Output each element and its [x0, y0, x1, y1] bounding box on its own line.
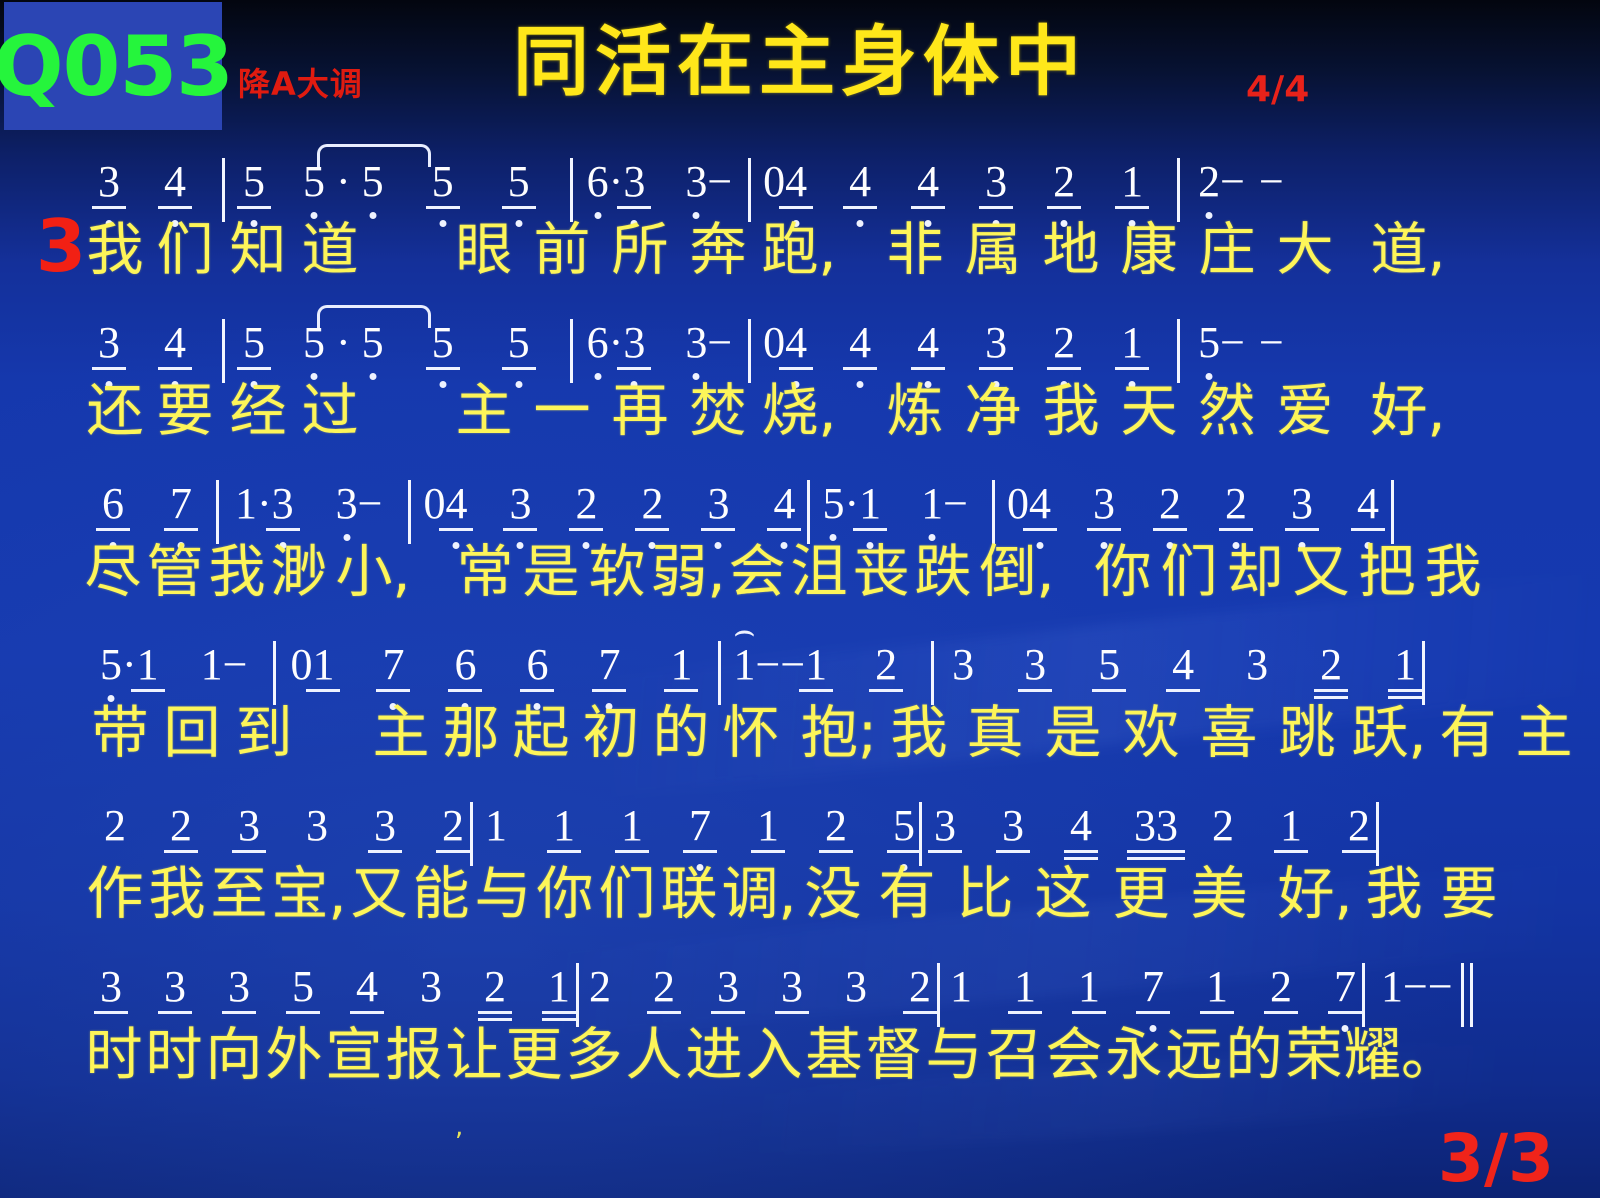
lyric-char: 焚: [680, 383, 756, 440]
lyric-char: 倒,: [974, 544, 1060, 601]
note: 2: [1348, 782, 1370, 848]
note: 3: [1291, 460, 1313, 526]
lyric-char: 知: [222, 222, 294, 279]
note: 4: [1029, 460, 1051, 526]
note: 3: [164, 943, 186, 1009]
note: 1: [1394, 621, 1416, 687]
lyric-char: 美: [1180, 866, 1258, 923]
song-slide: Q053 降A大调 同活在主身体中 4/4 3 3 4 5 5: [0, 0, 1600, 1198]
note: 3: [1024, 621, 1046, 687]
lyric-char: 带: [84, 705, 156, 762]
lyric-char: 抱;: [796, 705, 882, 762]
note: 3: [623, 299, 645, 365]
note: 3: [1246, 621, 1268, 687]
lyric-char: 主: [1504, 705, 1584, 762]
lyric-char: 们: [1156, 544, 1222, 601]
score-system-4: 5 · 1 1 − 0 1 7 6 6 7 1: [0, 621, 1600, 782]
note: 3: [98, 138, 120, 204]
dotted-rhythm-dot: ·: [844, 460, 859, 526]
lyric-row-1: 我 们 知 道 眼 前 所 奔 跑, 非 属 地 康 庄 大 道,: [0, 204, 1600, 296]
score-system-1: 3 3 4 5 5 · 5 5 5: [0, 138, 1600, 299]
score-system-2: 3 4 5 5 · 5 5 5: [0, 299, 1600, 460]
lyric-char: 康: [1110, 222, 1188, 279]
lyric-char: 荣: [1284, 1027, 1344, 1084]
hold-dash: −: [358, 460, 383, 526]
lyric-char: 联: [658, 866, 720, 923]
hold-dash: −: [780, 621, 805, 687]
lyric-char: 喜: [1190, 705, 1268, 762]
rest: 0: [763, 299, 785, 365]
lyric-char: 多: [564, 1027, 624, 1084]
rest: 0: [290, 621, 312, 687]
note: 3: [845, 943, 867, 1009]
lyric-char: 入: [744, 1027, 804, 1084]
lyric-char: 净: [954, 383, 1032, 440]
note: 2: [589, 943, 611, 1009]
lyric-char: 基: [804, 1027, 864, 1084]
lyric-char: 那: [436, 705, 506, 762]
lyric-row-6: 时 时 向 外 宣 报 让 更 多 人 进 入 基 督 与 召 会 永 远 的: [0, 1009, 1600, 1101]
note: 1: [670, 621, 692, 687]
note: 3: [420, 943, 442, 1009]
lyric-char: 属: [954, 222, 1032, 279]
note: 3: [717, 943, 739, 1009]
lyric-char: 有: [868, 866, 946, 923]
lyric-char: 又: [1288, 544, 1354, 601]
lyric-row-5: 作 我 至 宝, 又 能 与 你 们 联 调, 没 有 比 这 更 美 好, 我: [0, 848, 1600, 940]
note: 4: [773, 460, 795, 526]
note: 4: [164, 138, 186, 204]
lyric-char: 把: [1354, 544, 1420, 601]
note: 1: [1280, 782, 1302, 848]
note: 2: [1225, 460, 1247, 526]
note: 1: [1078, 943, 1100, 1009]
lyric-char: 经: [222, 383, 294, 440]
note: 1: [548, 943, 570, 1009]
rest: 0: [763, 138, 785, 204]
lyric-char: 们: [596, 866, 658, 923]
note: 4: [849, 299, 871, 365]
lyric-char: 外: [264, 1027, 324, 1084]
note: 5: [822, 460, 844, 526]
page-title: 同活在主身体中: [0, 24, 1600, 100]
note: 4: [1070, 782, 1092, 848]
score-system-5: 2 2 3 3 3 2 1 1 1 7: [0, 782, 1600, 943]
note: 2: [1320, 621, 1342, 687]
lyric-char: 的: [646, 705, 716, 762]
note: 2: [641, 460, 663, 526]
lyric-char: 常: [452, 544, 518, 601]
lyric-char: 向: [204, 1027, 264, 1084]
note: 5: [362, 299, 384, 365]
note: 2: [575, 460, 597, 526]
note-pair: 33: [1134, 782, 1178, 848]
music-score: 3 3 4 5 5 · 5 5 5: [0, 138, 1600, 1104]
note: 5: [1098, 621, 1120, 687]
lyric-char: 我: [1032, 383, 1110, 440]
lyric-char: 跑,: [756, 222, 842, 279]
note: 5: [508, 138, 530, 204]
lyric-char: 我: [82, 222, 148, 279]
lyric-char: 调,: [720, 866, 798, 923]
note: 5: [303, 138, 325, 204]
lyric-char: 大: [1266, 222, 1344, 279]
note: 4: [1357, 460, 1379, 526]
rest: 0: [1007, 460, 1029, 526]
lyric-char: 沮: [788, 544, 850, 601]
lyric-char: 真: [956, 705, 1034, 762]
lyric-row-3: 尽 管 我 渺 小, 常 是 软 弱, 会 沮 丧 跌 倒, 你 们 却 又: [0, 526, 1600, 618]
lyric-char: 时: [144, 1027, 204, 1084]
note: 6: [587, 138, 609, 204]
note: 6: [587, 299, 609, 365]
lyric-char: 地: [1032, 222, 1110, 279]
lyric-char: 进: [684, 1027, 744, 1084]
note: 1: [312, 621, 334, 687]
lyric-char: 软: [584, 544, 650, 601]
note: 3: [623, 138, 645, 204]
note: 5: [303, 299, 325, 365]
note: 3: [685, 299, 707, 365]
note: 7: [1334, 943, 1356, 1009]
page-number: 3/3: [1438, 1126, 1554, 1192]
note: 7: [689, 782, 711, 848]
lyric-char: 我: [1358, 866, 1430, 923]
note: 2: [909, 943, 931, 1009]
lyric-char: 会: [1044, 1027, 1104, 1084]
note: 2: [170, 782, 192, 848]
note: 7: [1142, 943, 1164, 1009]
lyric-char: 我: [146, 866, 208, 923]
note: 4: [785, 299, 807, 365]
note: 1: [201, 621, 223, 687]
note: 5: [432, 138, 454, 204]
note: 3: [100, 943, 122, 1009]
hold-dash: −: [1259, 138, 1284, 204]
note: 4: [164, 299, 186, 365]
stray-punctuation: ,: [455, 1112, 463, 1142]
lyric-char: 是: [518, 544, 584, 601]
dotted-rhythm-dot: ·: [257, 460, 272, 526]
lyric-char: 耀。: [1344, 1027, 1422, 1084]
lyric-char: 人: [624, 1027, 684, 1084]
note: 3: [985, 299, 1007, 365]
lyric-char: 要: [1430, 866, 1508, 923]
lyric-char: 回: [156, 705, 228, 762]
note: 3: [509, 460, 531, 526]
dotted-rhythm-dot: ·: [122, 621, 137, 687]
lyric-char: 更: [504, 1027, 564, 1084]
lyric-char: 弱,: [650, 544, 726, 601]
lyric-char: 过: [294, 383, 366, 440]
note: 2: [1212, 782, 1234, 848]
hold-dash: −: [943, 460, 968, 526]
lyric-char: 好,: [1364, 383, 1452, 440]
hold-dash: −: [707, 299, 732, 365]
lyric-char: 你: [534, 866, 596, 923]
lyric-char: 庄: [1188, 222, 1266, 279]
lyric-char: 道: [294, 222, 366, 279]
lyric-char: 爱: [1266, 383, 1344, 440]
note: 2: [104, 782, 126, 848]
note: 1: [950, 943, 972, 1009]
lyric-char: 欢: [1112, 705, 1190, 762]
lyric-char: 跃,: [1346, 705, 1432, 762]
note: 3: [707, 460, 729, 526]
note: 3: [98, 299, 120, 365]
note: 2: [1053, 299, 1075, 365]
lyric-char: 却: [1222, 544, 1288, 601]
lyric-char: 道,: [1364, 222, 1452, 279]
lyric-char: 是: [1034, 705, 1112, 762]
note: 1: [137, 621, 159, 687]
lyric-char: 要: [148, 383, 222, 440]
lyric-char: 炼: [876, 383, 954, 440]
note: 3: [306, 782, 328, 848]
note: 1: [1014, 943, 1036, 1009]
lyric-char: 更: [1102, 866, 1180, 923]
note: 4: [785, 138, 807, 204]
note: 7: [170, 460, 192, 526]
note: 2: [484, 943, 506, 1009]
note: 3: [374, 782, 396, 848]
note: 2: [1159, 460, 1181, 526]
lyric-char: 有: [1432, 705, 1504, 762]
score-system-3: 6 7 1 · 3 3 − 0 4 3 2: [0, 460, 1600, 621]
note: 1: [805, 621, 827, 687]
lyric-char: 跌: [912, 544, 974, 601]
note: 3: [238, 782, 260, 848]
note: 1: [921, 460, 943, 526]
lyric-char: 烧,: [756, 383, 842, 440]
note: ⌢1: [733, 621, 755, 687]
note: 2: [825, 782, 847, 848]
lyric-char: 召: [984, 1027, 1044, 1084]
lyric-char: 宝,: [270, 866, 348, 923]
lyric-char: 一: [524, 383, 600, 440]
lyric-char: 到: [228, 705, 300, 762]
lyric-char: 还: [82, 383, 148, 440]
lyric-char: 又: [348, 866, 410, 923]
lyric-char: 会: [726, 544, 788, 601]
lyric-row-4: 带 回 到 主 那 起 初 的 怀 抱; 我 真 是 欢 喜 跳 跃, 有: [0, 687, 1600, 779]
lyric-char: 能: [410, 866, 472, 923]
lyric-char: 小,: [330, 544, 416, 601]
note: 2: [1198, 138, 1220, 204]
note: 4: [356, 943, 378, 1009]
note: 5: [432, 299, 454, 365]
lyric-char: 远: [1164, 1027, 1224, 1084]
lyric-char: 我: [882, 705, 956, 762]
note: 4: [917, 299, 939, 365]
note: 1: [235, 460, 257, 526]
lyric-char: 怀: [716, 705, 786, 762]
dotted-rhythm-dot: ·: [609, 299, 624, 365]
note: 5: [292, 943, 314, 1009]
lyric-char: 主: [444, 383, 524, 440]
hold-dash: −: [1428, 943, 1453, 1009]
note: 5: [508, 299, 530, 365]
lyric-row-2: 还 要 经 过 主 一 再 焚 烧, 炼 净 我 天 然 爱 好,: [0, 365, 1600, 457]
lyric-char: 这: [1024, 866, 1102, 923]
slide-header: Q053 降A大调 同活在主身体中 4/4: [0, 0, 1600, 140]
note: 3: [781, 943, 803, 1009]
note: 3: [685, 138, 707, 204]
note: 3: [934, 782, 956, 848]
note: 1: [485, 782, 507, 848]
lyric-char: 管: [144, 544, 206, 601]
note: 6: [526, 621, 548, 687]
lyric-char: 作: [84, 866, 146, 923]
note: 5: [893, 782, 915, 848]
lyric-char: 尽: [82, 544, 144, 601]
lyric-char: 然: [1188, 383, 1266, 440]
note: 2: [1270, 943, 1292, 1009]
note: 1: [1121, 138, 1143, 204]
note: 2: [653, 943, 675, 1009]
note: 7: [598, 621, 620, 687]
rest: 0: [423, 460, 445, 526]
lyric-char: 眼: [444, 222, 524, 279]
hold-dash: −: [223, 621, 248, 687]
hold-dash: −: [1220, 138, 1245, 204]
note: 1: [553, 782, 575, 848]
lyric-char: 好,: [1272, 866, 1358, 923]
note: 2: [875, 621, 897, 687]
lyric-char: 初: [576, 705, 646, 762]
lyric-char: 永: [1104, 1027, 1164, 1084]
lyric-char: 们: [148, 222, 222, 279]
lyric-char: 我: [1420, 544, 1486, 601]
lyric-char: 丧: [850, 544, 912, 601]
lyric-char: 比: [946, 866, 1024, 923]
note: 3: [272, 460, 294, 526]
lyric-char: 没: [798, 866, 868, 923]
lyric-char: 时: [84, 1027, 144, 1084]
note: 1: [1206, 943, 1228, 1009]
note: 2: [442, 782, 464, 848]
hold-dash: −: [707, 138, 732, 204]
note: 5: [1198, 299, 1220, 365]
note: 5: [362, 138, 384, 204]
note: 4: [849, 138, 871, 204]
dotted-rhythm-dot: ·: [609, 138, 624, 204]
note: 5: [243, 299, 265, 365]
note: 4: [917, 138, 939, 204]
hold-dash: −: [1403, 943, 1428, 1009]
note: 5: [100, 621, 122, 687]
time-signature: 4/4: [1246, 72, 1309, 108]
note: 5: [243, 138, 265, 204]
lyric-char: 非: [876, 222, 954, 279]
note: 7: [382, 621, 404, 687]
note: 3: [336, 460, 358, 526]
note: 3: [228, 943, 250, 1009]
note: 2: [1053, 138, 1075, 204]
lyric-char: 再: [600, 383, 680, 440]
note: 3: [952, 621, 974, 687]
note: 1: [1121, 299, 1143, 365]
lyric-char: 你: [1090, 544, 1156, 601]
lyric-char: 前: [524, 222, 600, 279]
note: 6: [102, 460, 124, 526]
score-system-6: 3 3 3 5 4 3 2 1 2 2: [0, 943, 1600, 1104]
note: 3: [1002, 782, 1024, 848]
lyric-char: 奔: [680, 222, 756, 279]
lyric-char: 的: [1224, 1027, 1284, 1084]
lyric-char: 渺: [268, 544, 330, 601]
lyric-char: 与: [472, 866, 534, 923]
note: 6: [454, 621, 476, 687]
lyric-char: 宣: [324, 1027, 384, 1084]
lyric-char: 跳: [1268, 705, 1346, 762]
lyric-char: 至: [208, 866, 270, 923]
note: 4: [445, 460, 467, 526]
note: 1: [1381, 943, 1403, 1009]
hold-dash: −: [755, 621, 780, 687]
lyric-char: 天: [1110, 383, 1188, 440]
note: 4: [1172, 621, 1194, 687]
lyric-char: 让: [444, 1027, 504, 1084]
lyric-char: 所: [600, 222, 680, 279]
note: 1: [621, 782, 643, 848]
note: 1: [757, 782, 779, 848]
note: 1: [859, 460, 881, 526]
lyric-char: 我: [206, 544, 268, 601]
lyric-char: 督: [864, 1027, 924, 1084]
hold-dash: −: [1220, 299, 1245, 365]
lyric-char: 报: [384, 1027, 444, 1084]
note: 3: [1093, 460, 1115, 526]
lyric-char: 与: [924, 1027, 984, 1084]
lyric-char: 主: [366, 705, 436, 762]
lyric-char: 起: [506, 705, 576, 762]
hold-dash: −: [1259, 299, 1284, 365]
note: 3: [985, 138, 1007, 204]
